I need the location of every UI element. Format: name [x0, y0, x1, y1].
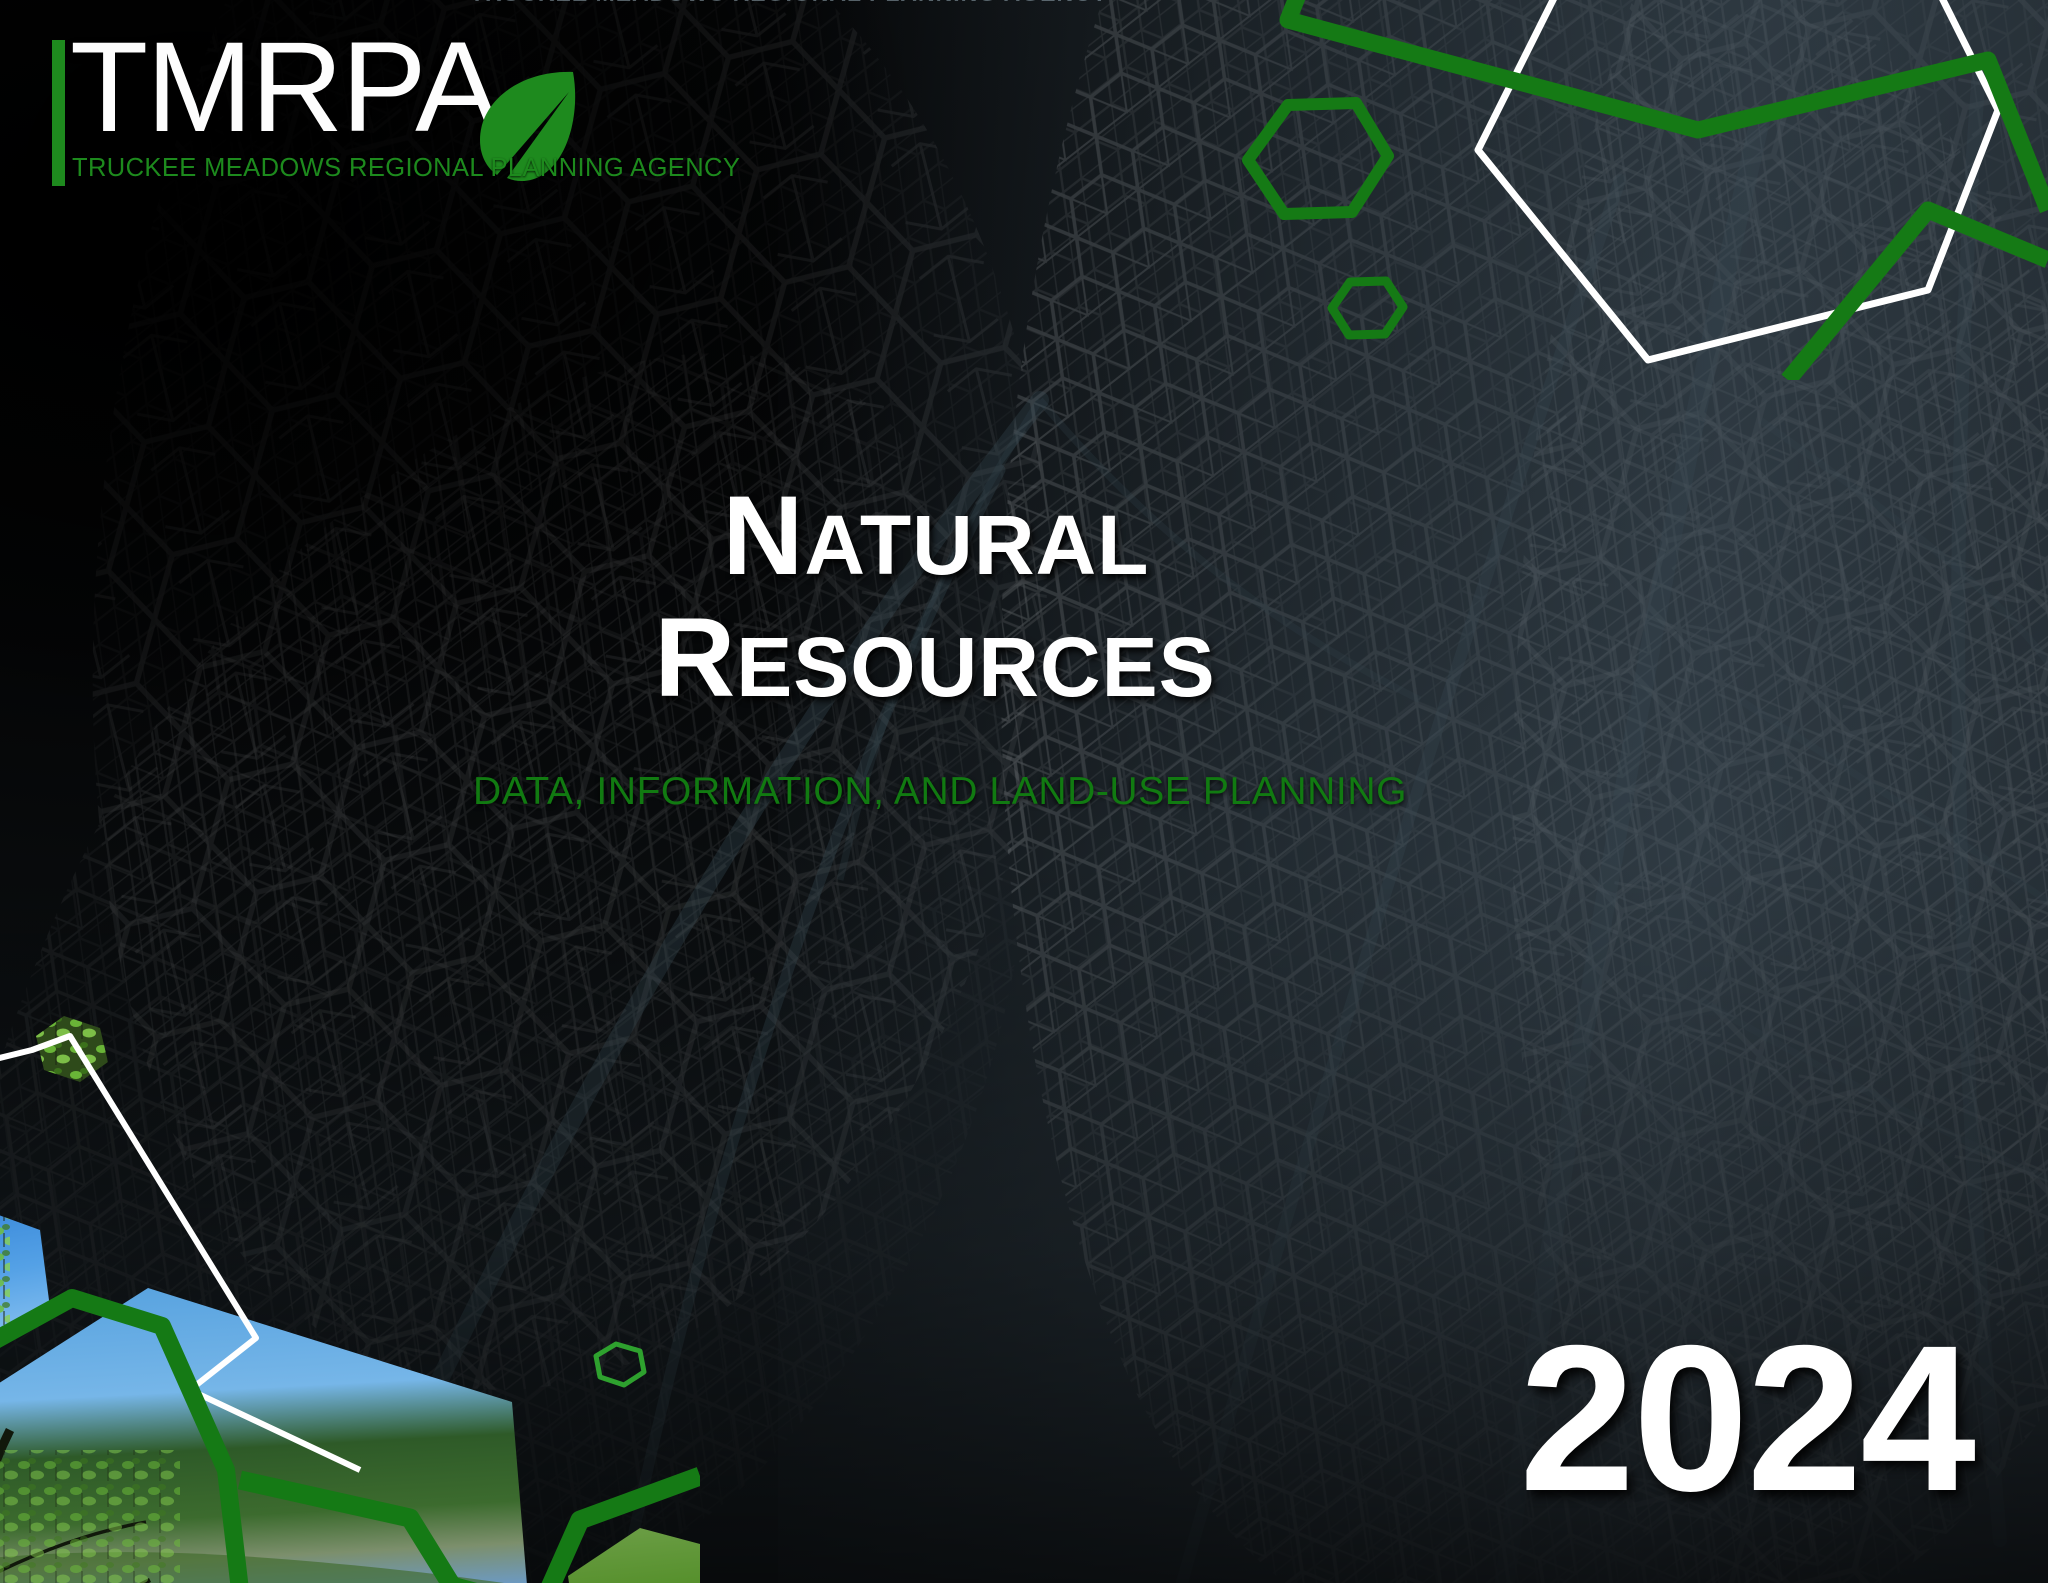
logo-wordmark-row: TMRPA — [52, 36, 612, 148]
white-hexagon-outline — [1478, 0, 1998, 360]
title-line-2-rest: ESOURCES — [736, 620, 1215, 714]
title-line-2-cap: R — [654, 595, 736, 720]
logo-tagline: TRUCKEE MEADOWS REGIONAL PLANNING AGENCY — [72, 154, 740, 183]
green-hexagon-small — [1332, 281, 1403, 335]
cover-title: NATURAL RESOURCES — [400, 478, 1480, 717]
logo-wordmark: TMRPA — [70, 24, 499, 152]
green-hexagon-large — [1248, 103, 1388, 214]
green-polyline — [1288, 0, 2048, 210]
report-cover-page: TRUCKEE MEADOWS REGIONAL PLANNING AGENCY… — [0, 0, 2048, 1583]
decorative-hexagons-top-right — [1228, 0, 2048, 380]
title-line-2: RESOURCES — [390, 600, 1480, 716]
cropped-header-text: TRUCKEE MEADOWS REGIONAL PLANNING AGENCY — [470, 0, 1230, 4]
green-hexagon-floating — [596, 1344, 644, 1385]
tmrpa-logo[interactable]: TMRPA TRUCKEE MEADOWS REGIONAL PLANNING … — [52, 36, 612, 186]
cover-subtitle: DATA, INFORMATION, AND LAND-USE PLANNING — [400, 770, 1480, 814]
cropped-header-sliver: TRUCKEE MEADOWS REGIONAL PLANNING AGENCY — [470, 0, 1230, 4]
photo-hexagon-wetland-main — [0, 1270, 580, 1583]
title-line-1: NATURAL — [392, 478, 1480, 594]
title-line-1-rest: ATURAL — [804, 498, 1149, 592]
title-line-1-cap: N — [723, 473, 805, 598]
logo-accent-bar — [52, 40, 65, 186]
cover-year: 2024 — [1519, 1315, 1974, 1523]
